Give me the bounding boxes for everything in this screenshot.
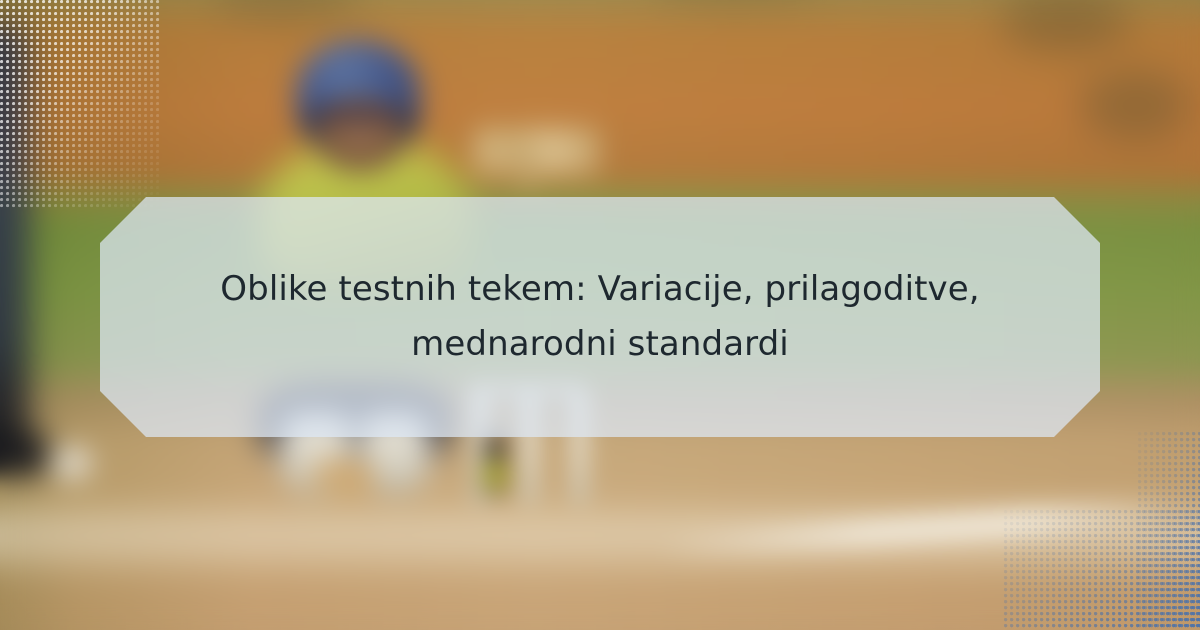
title-banner: Oblike testnih tekem: Variacije, prilago… — [100, 197, 1100, 437]
page-title: Oblike testnih tekem: Variacije, prilago… — [170, 262, 1030, 372]
social-share-card: Oblike testnih tekem: Variacije, prilago… — [0, 0, 1200, 630]
